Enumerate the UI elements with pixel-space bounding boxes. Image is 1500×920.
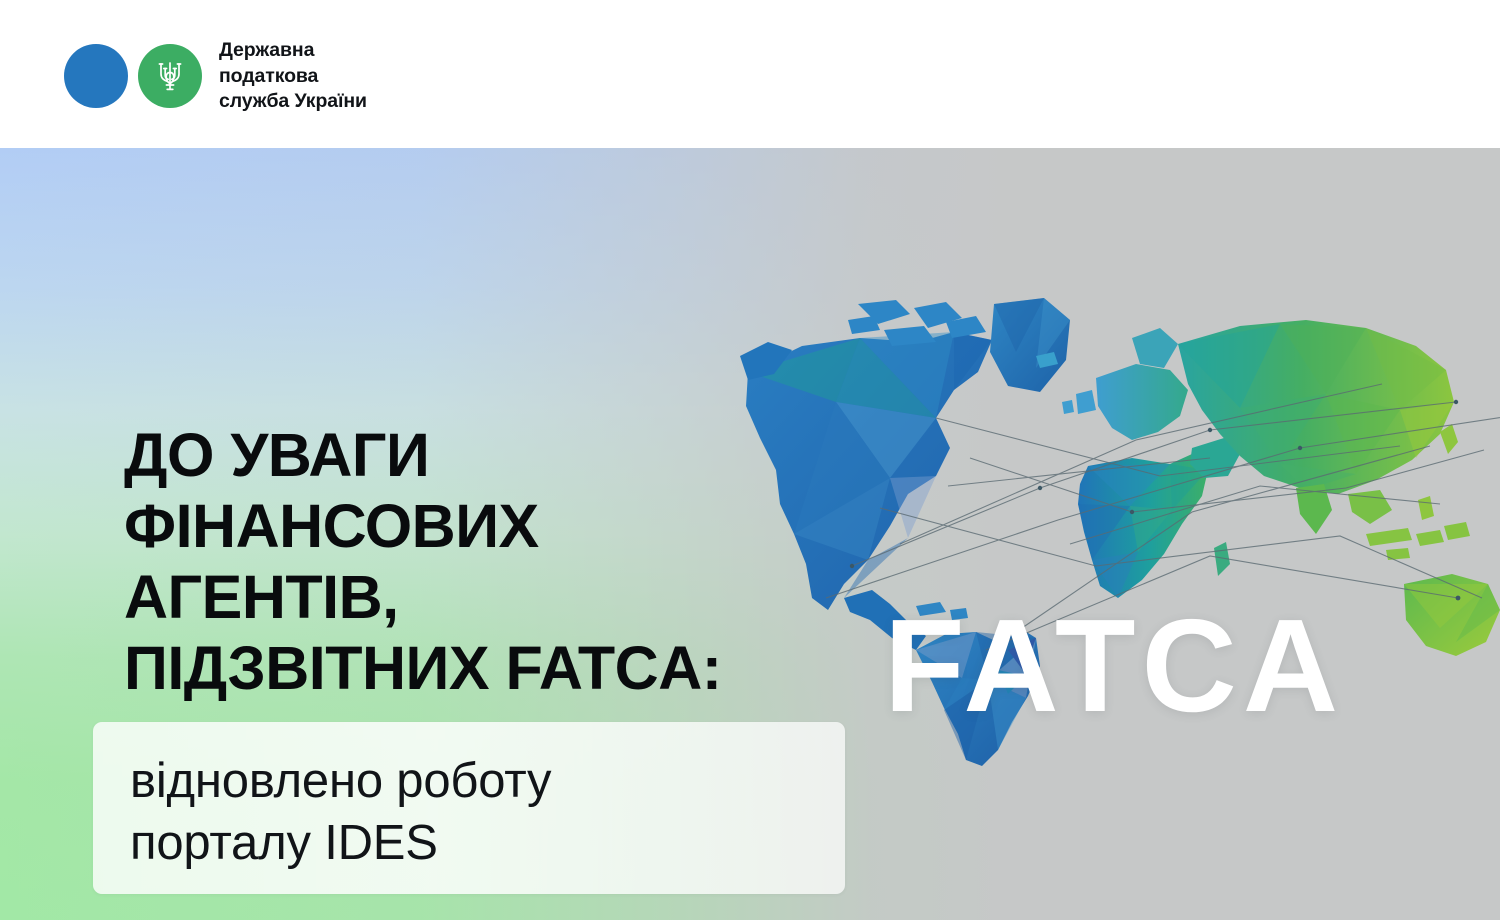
subtitle-line-1: відновлено роботу [130,750,551,812]
landmass-europe [1096,364,1188,440]
logo-circle-green-icon [138,44,202,108]
hero-canvas: FATCA ДО УВАГИ ФІНАНСОВИХ АГЕНТІВ, ПІДЗВ… [0,148,1500,920]
fatca-wordmark: FATCA [884,600,1344,732]
landmass-philippines [1418,496,1434,520]
ukraine-trident-icon [155,59,185,93]
headline-line-1: ДО УВАГИ [124,420,722,491]
subtitle-text: відновлено роботу порталу IDES [130,750,551,874]
landmass-british-isles [1062,390,1096,414]
organization-name: Державна податкова служба України [219,38,367,115]
header-band: Державна податкова служба України [0,0,1500,148]
headline-line-4: ПІДЗВІТНИХ FATCA: [124,633,722,704]
organization-name-line-2: податкова [219,64,367,90]
headline-line-2: ФІНАНСОВИХ [124,491,722,562]
organization-logo[interactable]: Державна податкова служба України [64,38,367,115]
headline-line-3: АГЕНТІВ, [124,562,722,633]
page-title: ДО УВАГИ ФІНАНСОВИХ АГЕНТІВ, ПІДЗВІТНИХ … [124,420,722,704]
organization-name-line-3: служба України [219,89,367,115]
organization-name-line-1: Державна [219,38,367,64]
logo-circle-blue-icon [64,44,128,108]
banner-stage: FATCA ДО УВАГИ ФІНАНСОВИХ АГЕНТІВ, ПІДЗВ… [0,0,1500,920]
landmass-japan [1440,424,1458,454]
subtitle-line-2: порталу IDES [130,812,551,874]
subtitle-panel: відновлено роботу порталу IDES [93,722,845,894]
landmass-scandinavia [1132,328,1178,368]
